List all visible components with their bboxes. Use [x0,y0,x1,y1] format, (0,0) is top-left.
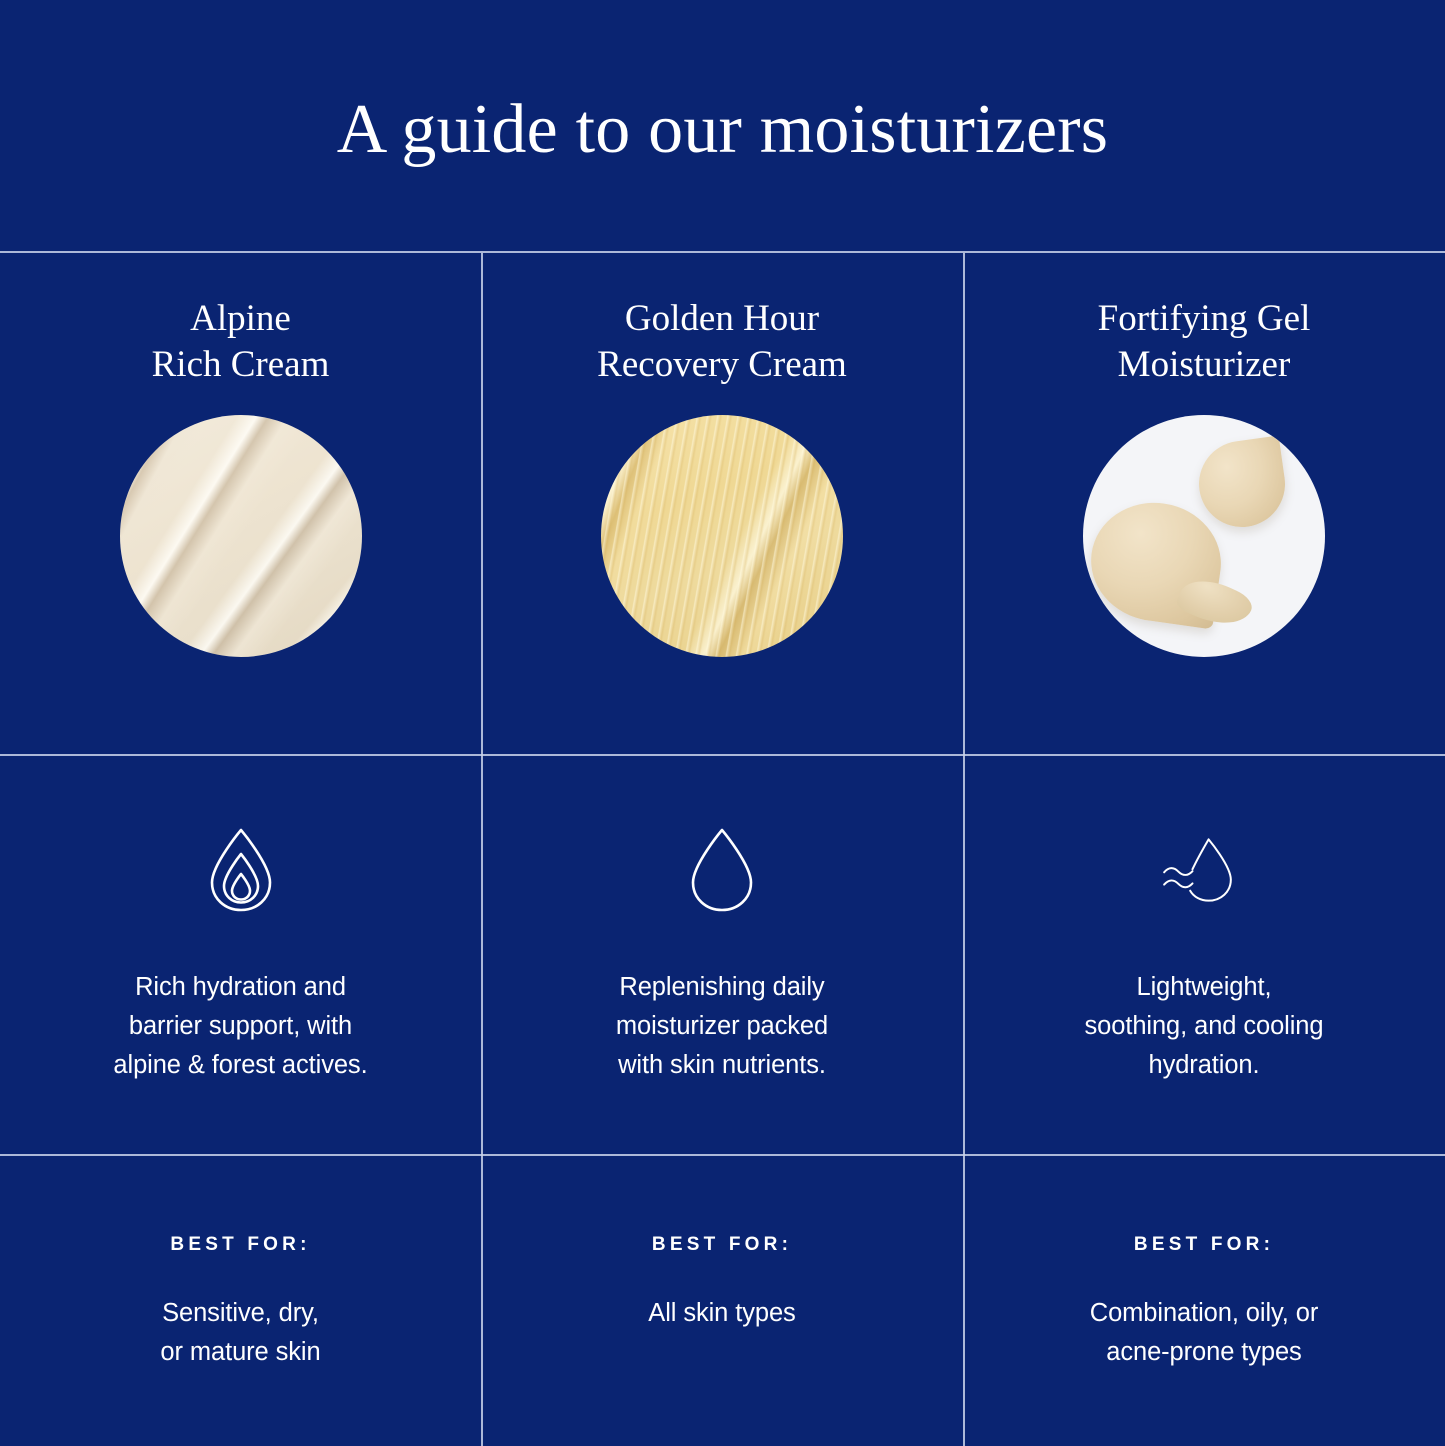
product-description: Replenishing daily moisturizer packed wi… [616,968,828,1084]
product-column-2-header: Golden Hour Recovery Cream [481,252,963,754]
product-description: Rich hydration and barrier support, with… [113,968,367,1084]
droplet-waves-icon [1158,824,1250,916]
product-description: Lightweight, soothing, and cooling hydra… [1085,968,1324,1084]
comparison-grid: Alpine Rich Cream Golden Hour Recovery C… [0,252,1445,1446]
product-column-1-header: Alpine Rich Cream [0,252,481,754]
best-for-value: All skin types [648,1294,795,1333]
best-for-label: BEST FOR: [1134,1234,1274,1256]
best-for-value: Sensitive, dry, or mature skin [160,1294,320,1372]
cream-swatch-golden [601,415,843,657]
gel-dollop-small [1193,435,1290,532]
page-title: A guide to our moisturizers [337,87,1108,165]
product-name: Fortifying Gel Moisturizer [1098,296,1311,389]
product-column-1-best-for: BEST FOR: Sensitive, dry, or mature skin [0,1154,481,1446]
product-column-2-benefits: Replenishing daily moisturizer packed wi… [481,754,963,1154]
product-column-3-benefits: Lightweight, soothing, and cooling hydra… [963,754,1445,1154]
triple-droplet-icon [195,824,287,916]
product-column-3-best-for: BEST FOR: Combination, oily, or acne-pro… [963,1154,1445,1446]
best-for-label: BEST FOR: [170,1234,310,1256]
droplet-icon [676,824,768,916]
product-name: Golden Hour Recovery Cream [597,296,847,389]
product-column-3-header: Fortifying Gel Moisturizer [963,252,1445,754]
gel-swatch-dollops [1083,415,1325,657]
best-for-label: BEST FOR: [652,1234,792,1256]
header: A guide to our moisturizers [0,0,1445,252]
moisturizer-guide-infographic: A guide to our moisturizers Alpine Rich … [0,0,1445,1446]
best-for-value: Combination, oily, or acne-prone types [1090,1294,1318,1372]
cream-swatch-ivory [120,415,362,657]
product-column-2-best-for: BEST FOR: All skin types [481,1154,963,1446]
product-name: Alpine Rich Cream [152,296,330,389]
product-column-1-benefits: Rich hydration and barrier support, with… [0,754,481,1154]
